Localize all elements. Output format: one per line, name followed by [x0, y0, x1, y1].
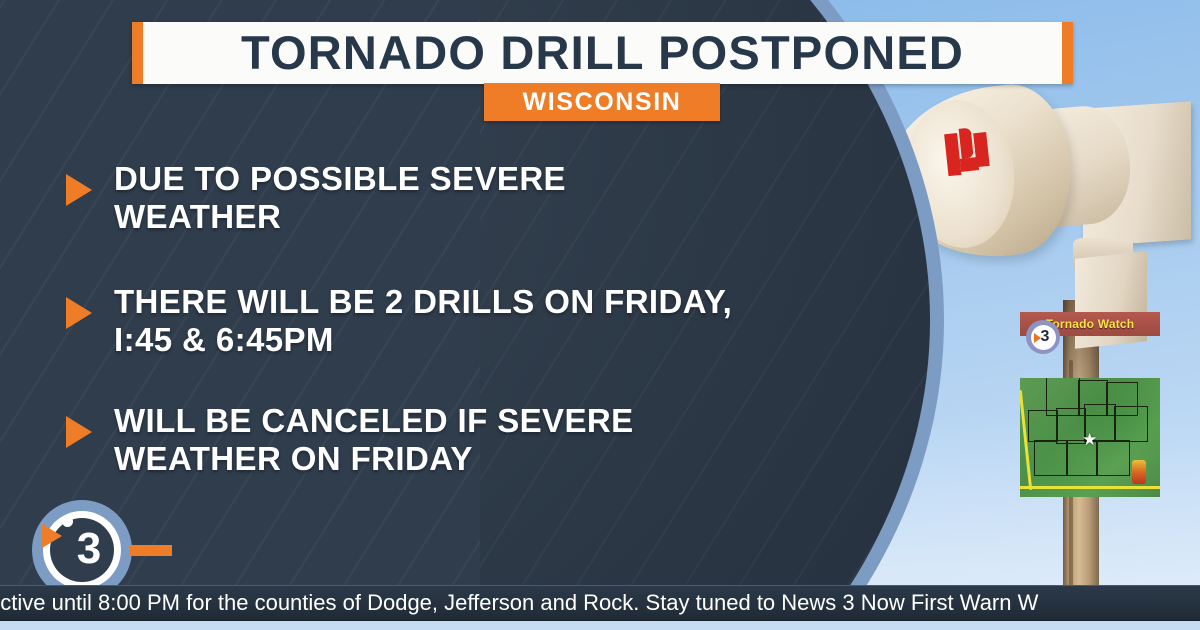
page-title: TORNADO DRILL POSTPONED — [143, 29, 1062, 78]
county-map — [1020, 378, 1160, 497]
storm-cell-icon — [1132, 460, 1146, 484]
logo-dash — [130, 545, 172, 556]
bullet-text: DUE TO POSSIBLE SEVERE WEATHER — [114, 160, 566, 235]
ticker-text: ective until 8:00 PM for the counties of… — [0, 592, 1038, 614]
highway-line-horizontal — [1020, 486, 1160, 489]
bullet-list: DUE TO POSSIBLE SEVERE WEATHER THERE WIL… — [66, 160, 866, 518]
location-badge: WISCONSIN — [484, 83, 720, 121]
county-outline — [1034, 440, 1068, 476]
map-badge-number: 3 — [1041, 329, 1050, 345]
news-ticker: ective until 8:00 PM for the counties of… — [0, 585, 1200, 621]
list-item: THERE WILL BE 2 DRILLS ON FRIDAY, I:45 &… — [66, 283, 866, 358]
triangle-right-icon — [66, 416, 92, 448]
county-outline — [1028, 410, 1058, 442]
tornado-watch-map-inset: Tornado Watch 3 — [1020, 312, 1160, 497]
siren-manufacturer-logo-icon — [944, 126, 993, 176]
list-item: WILL BE CANCELED IF SEVERE WEATHER ON FR… — [66, 402, 866, 477]
broadcast-graphic: Tornado Watch 3 TORNADO DRILL P — [0, 0, 1200, 630]
map-channel-badge-icon: 3 — [1026, 320, 1060, 354]
headline-accent-left — [132, 22, 143, 84]
headline-bar: TORNADO DRILL POSTPONED — [132, 22, 1073, 84]
logo-channel-number: 3 — [77, 527, 101, 571]
bullet-text: WILL BE CANCELED IF SEVERE WEATHER ON FR… — [114, 402, 634, 477]
play-triangle-icon — [42, 524, 62, 548]
triangle-right-icon — [66, 297, 92, 329]
triangle-right-icon — [66, 174, 92, 206]
headline-accent-right — [1062, 22, 1073, 84]
county-outline — [1114, 406, 1148, 442]
list-item: DUE TO POSSIBLE SEVERE WEATHER — [66, 160, 866, 235]
ticker-bottom-strip — [0, 621, 1200, 630]
bullet-text: THERE WILL BE 2 DRILLS ON FRIDAY, I:45 &… — [114, 283, 732, 358]
county-outline — [1096, 440, 1130, 476]
logo-dot — [62, 516, 73, 527]
